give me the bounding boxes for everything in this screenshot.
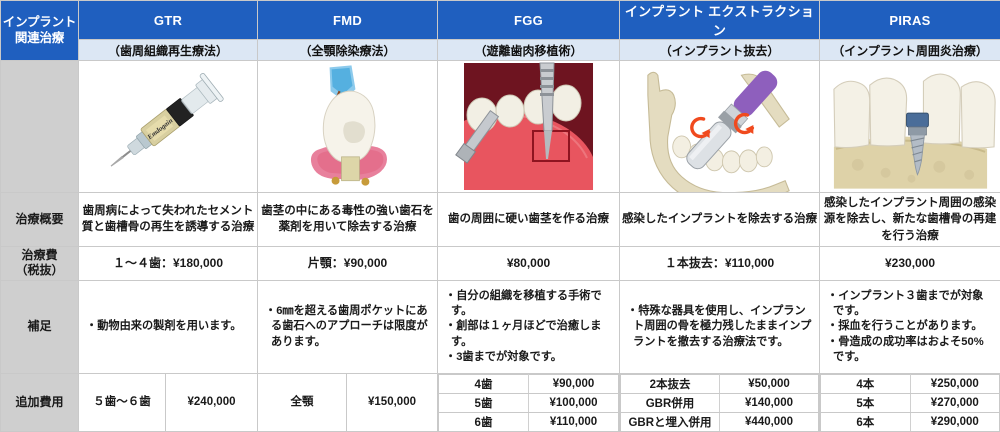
additional-item: GBR併用: [621, 394, 720, 413]
overview-row: 治療概要 歯周病によって失われたセメント質と歯槽骨の再生を誘導する治療 歯茎の中…: [1, 193, 1000, 247]
column-subtitle-piras: （インプラント周囲炎治療）: [820, 40, 1000, 61]
note-line: ・動物由来の製剤を用います。: [86, 319, 251, 334]
column-subtitle-fmd: （全顎除染療法）: [258, 40, 438, 61]
price-cell-gtr: １〜４歯：¥180,000: [79, 246, 258, 281]
note-line: ・創部は１ヶ月ほどで治癒します。: [445, 319, 613, 350]
row-label-price-line1: 治療費: [1, 248, 78, 264]
note-line: ・自分の組織を移植する手術です。: [445, 289, 613, 320]
additional-table-fgg: 4歯 ¥90,000 5歯 ¥100,000 6歯 ¥110,000: [438, 374, 620, 432]
note-line: ・特殊な器具を使用し、インプラント周囲の骨を極力残したままインプラントを撤去する…: [627, 304, 813, 350]
notes-cell-piras: ・インプラント３歯までが対象です。 ・採血を行うことがあります。 ・骨造成の成功…: [820, 281, 1000, 374]
gum-graft-surgery-icon: [438, 61, 619, 192]
syringe-icon: Emdogain: [79, 61, 257, 192]
note-line: ・インプラント３歯までが対象です。: [827, 289, 994, 320]
additional-item: GBRと埋入併用: [621, 413, 720, 432]
column-header-gtr: GTR: [79, 1, 258, 40]
column-header-fgg: FGG: [438, 1, 620, 40]
additional-row-fgg: 5歯 ¥100,000: [439, 394, 619, 413]
additional-cost-row: 追加費用 ５歯〜６歯 ¥240,000 全顎 ¥150,000 4歯 ¥90,0…: [1, 374, 1000, 432]
illustration-cell-implant-extraction: [620, 61, 820, 193]
additional-item: 5歯: [439, 394, 529, 413]
additional-item-gtr: ５歯〜６歯: [79, 374, 166, 432]
additional-item: 6本: [821, 413, 911, 432]
row-label-additional-cost: 追加費用: [1, 374, 79, 432]
additional-row-piras: 6本 ¥290,000: [821, 413, 1000, 432]
price-row: 治療費 （税抜） １〜４歯：¥180,000 片顎：¥90,000 ¥80,00…: [1, 246, 1000, 281]
additional-row-piras: 4本 ¥250,000: [821, 375, 1000, 394]
price-cell-fmd: 片顎：¥90,000: [258, 246, 438, 281]
corner-title-line1: インプラント: [1, 15, 78, 31]
additional-price: ¥100,000: [529, 394, 619, 413]
additional-row-extraction: GBRと埋入併用 ¥440,000: [621, 413, 819, 432]
additional-row-extraction: 2本抜去 ¥50,000: [621, 375, 819, 394]
corner-title-line2: 関連治療: [1, 31, 78, 47]
row-label-overview: 治療概要: [1, 193, 79, 247]
tooth-implant-cleaning-icon: [258, 61, 437, 192]
additional-price: ¥90,000: [529, 375, 619, 394]
additional-item: 6歯: [439, 413, 529, 432]
notes-cell-implant-extraction: ・特殊な器具を使用し、インプラント周囲の骨を極力残したままインプラントを撤去する…: [620, 281, 820, 374]
additional-price-fmd: ¥150,000: [347, 374, 438, 432]
header-row-names: インプラント 関連治療 GTR FMD FGG インプラント エクストラクション…: [1, 1, 1000, 40]
row-label-price: 治療費 （税抜）: [1, 246, 79, 281]
note-line: ・採血を行うことがあります。: [827, 319, 994, 334]
additional-table-implant-extraction: 2本抜去 ¥50,000 GBR併用 ¥140,000 GBRと埋入併用 ¥44…: [620, 374, 820, 432]
implant-bone-regeneration-icon: [820, 61, 1000, 192]
additional-price: ¥270,000: [910, 394, 1000, 413]
overview-cell-piras: 感染したインプラント周囲の感染源を除去し、新たな歯槽骨の再建を行う治療: [820, 193, 1000, 247]
additional-price: ¥110,000: [529, 413, 619, 432]
price-cell-implant-extraction: １本抜去：¥110,000: [620, 246, 820, 281]
notes-cell-fgg: ・自分の組織を移植する手術です。 ・創部は１ヶ月ほどで治癒します。 ・3歯までが…: [438, 281, 620, 374]
notes-cell-gtr: ・動物由来の製剤を用います。: [79, 281, 258, 374]
column-header-piras: PIRAS: [820, 1, 1000, 40]
additional-price: ¥50,000: [720, 375, 819, 394]
illustration-cell-piras: [820, 61, 1000, 193]
illustration-cell-fmd: [258, 61, 438, 193]
row-label-notes: 補足: [1, 281, 79, 374]
additional-price-gtr: ¥240,000: [166, 374, 258, 432]
overview-cell-fgg: 歯の周囲に硬い歯茎を作る治療: [438, 193, 620, 247]
additional-price: ¥250,000: [910, 375, 1000, 394]
overview-cell-gtr: 歯周病によって失われたセメント質と歯槽骨の再生を誘導する治療: [79, 193, 258, 247]
note-line: ・3歯までが対象です。: [445, 350, 613, 365]
note-line: ・6㎜を超える歯周ポケットにある歯石へのアプローチは限度があります。: [265, 304, 431, 350]
column-subtitle-gtr: （歯周組織再生療法）: [79, 40, 258, 61]
illustration-row-label: [1, 61, 79, 193]
column-header-implant-extraction: インプラント エクストラクション: [620, 1, 820, 40]
additional-row-fgg: 6歯 ¥110,000: [439, 413, 619, 432]
additional-item: 5本: [821, 394, 911, 413]
illustration-cell-fgg: [438, 61, 620, 193]
illustration-cell-gtr: Emdogain: [79, 61, 258, 193]
additional-table-piras: 4本 ¥250,000 5本 ¥270,000 6本 ¥290,000: [820, 374, 1000, 432]
note-line: ・骨造成の成功率はおよそ50%です。: [827, 335, 994, 366]
overview-cell-fmd: 歯茎の中にある毒性の強い歯石を薬剤を用いて除去する治療: [258, 193, 438, 247]
additional-item: 4本: [821, 375, 911, 394]
additional-price: ¥440,000: [720, 413, 819, 432]
table-corner-title: インプラント 関連治療: [1, 1, 79, 61]
price-cell-fgg: ¥80,000: [438, 246, 620, 281]
additional-price: ¥140,000: [720, 394, 819, 413]
additional-item-fmd: 全顎: [258, 374, 347, 432]
additional-row-piras: 5本 ¥270,000: [821, 394, 1000, 413]
header-row-subtitles: （歯周組織再生療法） （全顎除染療法） （遊離歯肉移植術） （インプラント抜去）…: [1, 40, 1000, 61]
implant-extraction-jaw-icon: [620, 61, 819, 192]
overview-cell-implant-extraction: 感染したインプラントを除去する治療: [620, 193, 820, 247]
notes-row: 補足 ・動物由来の製剤を用います。 ・6㎜を超える歯周ポケットにある歯石へのアプ…: [1, 281, 1000, 374]
illustration-row: Emdogain: [1, 61, 1000, 193]
column-subtitle-implant-extraction: （インプラント抜去）: [620, 40, 820, 61]
column-header-fmd: FMD: [258, 1, 438, 40]
additional-item: 4歯: [439, 375, 529, 394]
additional-row-fgg: 4歯 ¥90,000: [439, 375, 619, 394]
comparison-table-page: インプラント 関連治療 GTR FMD FGG インプラント エクストラクション…: [0, 0, 1000, 432]
column-subtitle-fgg: （遊離歯肉移植術）: [438, 40, 620, 61]
price-cell-piras: ¥230,000: [820, 246, 1000, 281]
row-label-price-line2: （税抜）: [1, 263, 78, 279]
notes-cell-fmd: ・6㎜を超える歯周ポケットにある歯石へのアプローチは限度があります。: [258, 281, 438, 374]
additional-row-extraction: GBR併用 ¥140,000: [621, 394, 819, 413]
additional-price: ¥290,000: [910, 413, 1000, 432]
additional-item: 2本抜去: [621, 375, 720, 394]
implant-treatment-comparison-table: インプラント 関連治療 GTR FMD FGG インプラント エクストラクション…: [0, 0, 1000, 432]
